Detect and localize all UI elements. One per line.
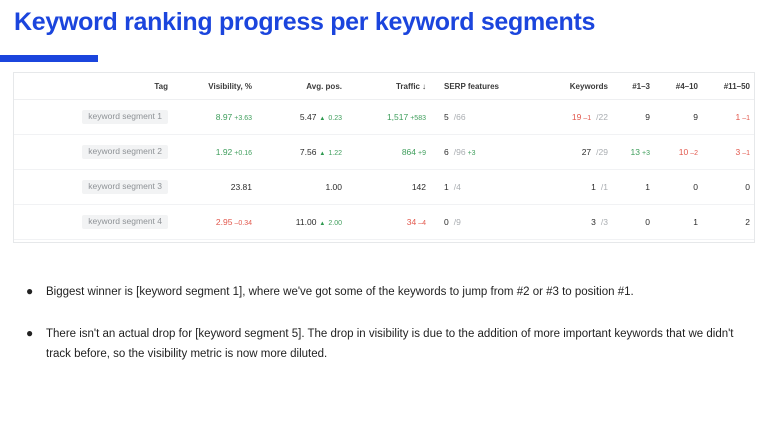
keywords-value: 27 bbox=[582, 147, 591, 157]
rank-11-50-cell: 2+1 bbox=[702, 240, 754, 244]
serp-features-delta: +3 bbox=[468, 150, 476, 157]
rank-11-50-delta: –1 bbox=[742, 115, 750, 122]
visibility-value: 8.97 bbox=[216, 112, 233, 122]
rank-1-3-cell: 0 bbox=[612, 240, 654, 244]
rank-1-3-value: 13 bbox=[631, 147, 640, 157]
rank-1-3-delta: +3 bbox=[642, 150, 650, 157]
rank-11-50-value: 3 bbox=[735, 147, 740, 157]
rank-51-100-cell: 0 bbox=[754, 170, 755, 205]
table-header-row: Tag Visibility, % Avg. pos. Traffic↓ SER… bbox=[14, 73, 755, 100]
rank-4-10-value: 10 bbox=[679, 147, 688, 157]
avg-position-delta: 0.23 bbox=[328, 115, 342, 122]
row-tag-cell: keyword segment 3 bbox=[14, 170, 172, 205]
keywords-total: /3 bbox=[601, 217, 608, 227]
rank-4-10-value: 1 bbox=[693, 217, 698, 227]
bullet-point-icon: ● bbox=[24, 282, 46, 300]
avg-position-value: 7.56 bbox=[300, 147, 317, 157]
serp-features-cell: 0/26+23 bbox=[430, 240, 534, 244]
keywords-value: 3 bbox=[591, 217, 596, 227]
serp-features-cell: 0/9 bbox=[430, 205, 534, 240]
visibility-delta: +3.63 bbox=[234, 115, 252, 122]
rank-11-50-value: 0 bbox=[745, 182, 750, 192]
table-row[interactable]: keyword segment 18.97+3.635.47▲0.231,517… bbox=[14, 100, 755, 135]
visibility-value: 23.81 bbox=[231, 182, 252, 192]
tag-chip[interactable]: keyword segment 2 bbox=[82, 145, 168, 159]
rank-11-50-cell: 0 bbox=[702, 170, 754, 205]
avg-position-delta: 1.22 bbox=[328, 150, 342, 157]
sort-descending-icon: ↓ bbox=[422, 82, 426, 91]
table-body: keyword segment 18.97+3.635.47▲0.231,517… bbox=[14, 100, 755, 244]
rank-4-10-value: 0 bbox=[693, 182, 698, 192]
rank-4-10-value: 9 bbox=[693, 112, 698, 122]
traffic-cell: 142 bbox=[346, 170, 430, 205]
traffic-delta: +9 bbox=[418, 150, 426, 157]
bullet-point-icon: ● bbox=[24, 324, 46, 342]
rank-1-3-value: 9 bbox=[645, 112, 650, 122]
visibility-delta: +0.16 bbox=[234, 150, 252, 157]
avg-position-trend-up-icon: ▲ bbox=[319, 116, 325, 122]
traffic-cell: 1,517+583 bbox=[346, 100, 430, 135]
tag-chip[interactable]: keyword segment 4 bbox=[82, 215, 168, 229]
traffic-value: 142 bbox=[412, 182, 426, 192]
table-row[interactable]: keyword segment 42.95–0.3411.00▲2.0034–4… bbox=[14, 205, 755, 240]
keywords-value: 19 bbox=[572, 112, 581, 122]
rank-4-10-delta: –2 bbox=[690, 150, 698, 157]
list-item: ●There isn't an actual drop for [keyword… bbox=[24, 324, 748, 364]
keywords-cell: 27/29 bbox=[534, 135, 612, 170]
rank-11-50-value: 2 bbox=[745, 217, 750, 227]
table-row[interactable]: keyword segment 50.08–0.7729.40▼14.4034+… bbox=[14, 240, 755, 244]
keywords-cell: 19–1/22 bbox=[534, 100, 612, 135]
keywords-value: 1 bbox=[591, 182, 596, 192]
rank-4-10-cell: 2+2 bbox=[654, 240, 702, 244]
row-tag-cell: keyword segment 4 bbox=[14, 205, 172, 240]
column-header-tag[interactable]: Tag bbox=[14, 73, 172, 100]
rank-51-100-cell: 1 bbox=[754, 135, 755, 170]
tag-chip[interactable]: keyword segment 3 bbox=[82, 180, 168, 194]
rank-1-3-cell: 13+3 bbox=[612, 135, 654, 170]
keywords-total: /29 bbox=[596, 147, 608, 157]
traffic-cell: 34+30 bbox=[346, 240, 430, 244]
rank-11-50-delta: –1 bbox=[742, 150, 750, 157]
tag-chip[interactable]: keyword segment 1 bbox=[82, 110, 168, 124]
traffic-value: 1,517 bbox=[387, 112, 408, 122]
column-header-traffic[interactable]: Traffic↓ bbox=[346, 73, 430, 100]
rank-4-10-cell: 0 bbox=[654, 170, 702, 205]
visibility-delta: –0.34 bbox=[234, 220, 252, 227]
avg-position-cell: 5.47▲0.23 bbox=[256, 100, 346, 135]
traffic-cell: 34–4 bbox=[346, 205, 430, 240]
list-item: ●Biggest winner is [keyword segment 1], … bbox=[24, 282, 748, 302]
column-header-avg-position[interactable]: Avg. pos. bbox=[256, 73, 346, 100]
serp-features-total: /4 bbox=[454, 182, 461, 192]
visibility-cell: 1.92+0.16 bbox=[172, 135, 256, 170]
rank-11-50-cell: 1–1 bbox=[702, 100, 754, 135]
traffic-delta: –4 bbox=[418, 220, 426, 227]
rank-1-3-cell: 1 bbox=[612, 170, 654, 205]
avg-position-trend-up-icon: ▲ bbox=[319, 221, 325, 227]
avg-position-cell: 7.56▲1.22 bbox=[256, 135, 346, 170]
serp-features-total: /66 bbox=[454, 112, 466, 122]
serp-features-value: 6 bbox=[444, 147, 449, 157]
rank-11-50-cell: 2 bbox=[702, 205, 754, 240]
table-row[interactable]: keyword segment 323.811.001421/41/110000… bbox=[14, 170, 755, 205]
rank-4-10-cell: 10–2 bbox=[654, 135, 702, 170]
avg-position-trend-up-icon: ▲ bbox=[319, 151, 325, 157]
row-tag-cell: keyword segment 1 bbox=[14, 100, 172, 135]
avg-position-cell: 11.00▲2.00 bbox=[256, 205, 346, 240]
table-row[interactable]: keyword segment 21.92+0.167.56▲1.22864+9… bbox=[14, 135, 755, 170]
bullet-list: ●Biggest winner is [keyword segment 1], … bbox=[24, 282, 748, 386]
serp-features-total: /9 bbox=[454, 217, 461, 227]
column-header-visibility[interactable]: Visibility, % bbox=[172, 73, 256, 100]
rank-1-3-value: 1 bbox=[645, 182, 650, 192]
rank-51-100-cell: 0 bbox=[754, 100, 755, 135]
visibility-value: 2.95 bbox=[216, 217, 233, 227]
serp-features-total: /96 bbox=[454, 147, 466, 157]
avg-position-value: 5.47 bbox=[300, 112, 317, 122]
keywords-delta: –1 bbox=[583, 115, 591, 122]
serp-features-cell: 1/4 bbox=[430, 170, 534, 205]
column-header-serp-features[interactable]: SERP features bbox=[430, 73, 534, 100]
keywords-total: /1 bbox=[601, 182, 608, 192]
column-header-traffic-label: Traffic bbox=[396, 82, 420, 91]
rank-4-10-cell: 9 bbox=[654, 100, 702, 135]
visibility-value: 1.92 bbox=[216, 147, 233, 157]
serp-features-cell: 6/96+3 bbox=[430, 135, 534, 170]
rank-51-100-cell: 1+1 bbox=[754, 240, 755, 244]
keyword-ranking-table: Tag Visibility, % Avg. pos. Traffic↓ SER… bbox=[14, 73, 755, 243]
column-header-rank-4-10[interactable]: #4–10 bbox=[654, 73, 702, 100]
list-item-text: Biggest winner is [keyword segment 1], w… bbox=[46, 282, 748, 302]
keywords-cell: 1/1 bbox=[534, 170, 612, 205]
avg-position-value: 11.00 bbox=[296, 217, 317, 227]
keyword-table-card: Tag Visibility, % Avg. pos. Traffic↓ SER… bbox=[13, 72, 755, 243]
rank-1-3-cell: 0 bbox=[612, 205, 654, 240]
row-tag-cell: keyword segment 5 bbox=[14, 240, 172, 244]
traffic-delta: +583 bbox=[410, 115, 426, 122]
row-tag-cell: keyword segment 2 bbox=[14, 135, 172, 170]
rank-4-10-cell: 1 bbox=[654, 205, 702, 240]
column-header-keywords[interactable]: Keywords bbox=[534, 73, 612, 100]
rank-51-100-cell: 0 bbox=[754, 205, 755, 240]
rank-11-50-value: 1 bbox=[735, 112, 740, 122]
visibility-cell: 2.95–0.34 bbox=[172, 205, 256, 240]
avg-position-delta: 2.00 bbox=[328, 220, 342, 227]
column-header-rank-11-50[interactable]: #11–50 bbox=[702, 73, 754, 100]
visibility-cell: 23.81 bbox=[172, 170, 256, 205]
serp-features-value: 5 bbox=[444, 112, 449, 122]
keywords-total: /22 bbox=[596, 112, 608, 122]
list-item-text: There isn't an actual drop for [keyword … bbox=[46, 324, 748, 364]
title-accent-bar bbox=[0, 55, 98, 62]
traffic-value: 34 bbox=[407, 217, 416, 227]
traffic-value: 864 bbox=[402, 147, 416, 157]
visibility-cell: 0.08–0.77 bbox=[172, 240, 256, 244]
column-header-rank-51-100[interactable]: #51–100 bbox=[754, 73, 755, 100]
serp-features-value: 0 bbox=[444, 217, 449, 227]
avg-position-cell: 1.00 bbox=[256, 170, 346, 205]
traffic-cell: 864+9 bbox=[346, 135, 430, 170]
serp-features-value: 1 bbox=[444, 182, 449, 192]
rank-1-3-cell: 9 bbox=[612, 100, 654, 135]
column-header-rank-1-3[interactable]: #1–3 bbox=[612, 73, 654, 100]
rank-1-3-value: 0 bbox=[645, 217, 650, 227]
rank-11-50-cell: 3–1 bbox=[702, 135, 754, 170]
page-title: Keyword ranking progress per keyword seg… bbox=[14, 8, 595, 37]
keywords-cell: 5+4/8 bbox=[534, 240, 612, 244]
avg-position-cell: 29.40▼14.40 bbox=[256, 240, 346, 244]
visibility-cell: 8.97+3.63 bbox=[172, 100, 256, 135]
keywords-cell: 3/3 bbox=[534, 205, 612, 240]
serp-features-cell: 5/66 bbox=[430, 100, 534, 135]
avg-position-value: 1.00 bbox=[325, 182, 342, 192]
